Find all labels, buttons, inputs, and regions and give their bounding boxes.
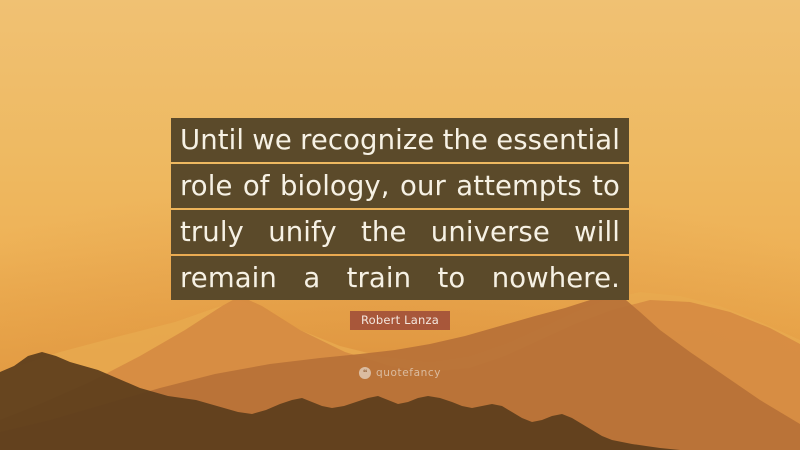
- quote-line-text: remainatraintonowhere.: [180, 256, 620, 300]
- author-name: Robert Lanza: [361, 313, 439, 327]
- watermark[interactable]: ❝ quotefancy: [359, 367, 441, 379]
- quote-line: Untilwerecognizetheessential: [171, 118, 629, 162]
- quote-line: trulyunifytheuniversewill: [171, 210, 629, 254]
- quote-line: roleofbiology,ourattemptsto: [171, 164, 629, 208]
- quote-line-text: trulyunifytheuniversewill: [180, 210, 620, 254]
- quote-line-text: Untilwerecognizetheessential: [180, 118, 620, 162]
- watermark-label: quotefancy: [376, 367, 441, 379]
- quote-image: Untilwerecognizetheessential roleofbiolo…: [0, 0, 800, 450]
- quote-text-block: Untilwerecognizetheessential roleofbiolo…: [0, 118, 800, 300]
- quote-line-text: roleofbiology,ourattemptsto: [180, 164, 620, 208]
- author-badge[interactable]: Robert Lanza: [350, 311, 450, 330]
- quote-line: remainatraintonowhere.: [171, 256, 629, 300]
- quote-mark-icon: ❝: [359, 367, 371, 379]
